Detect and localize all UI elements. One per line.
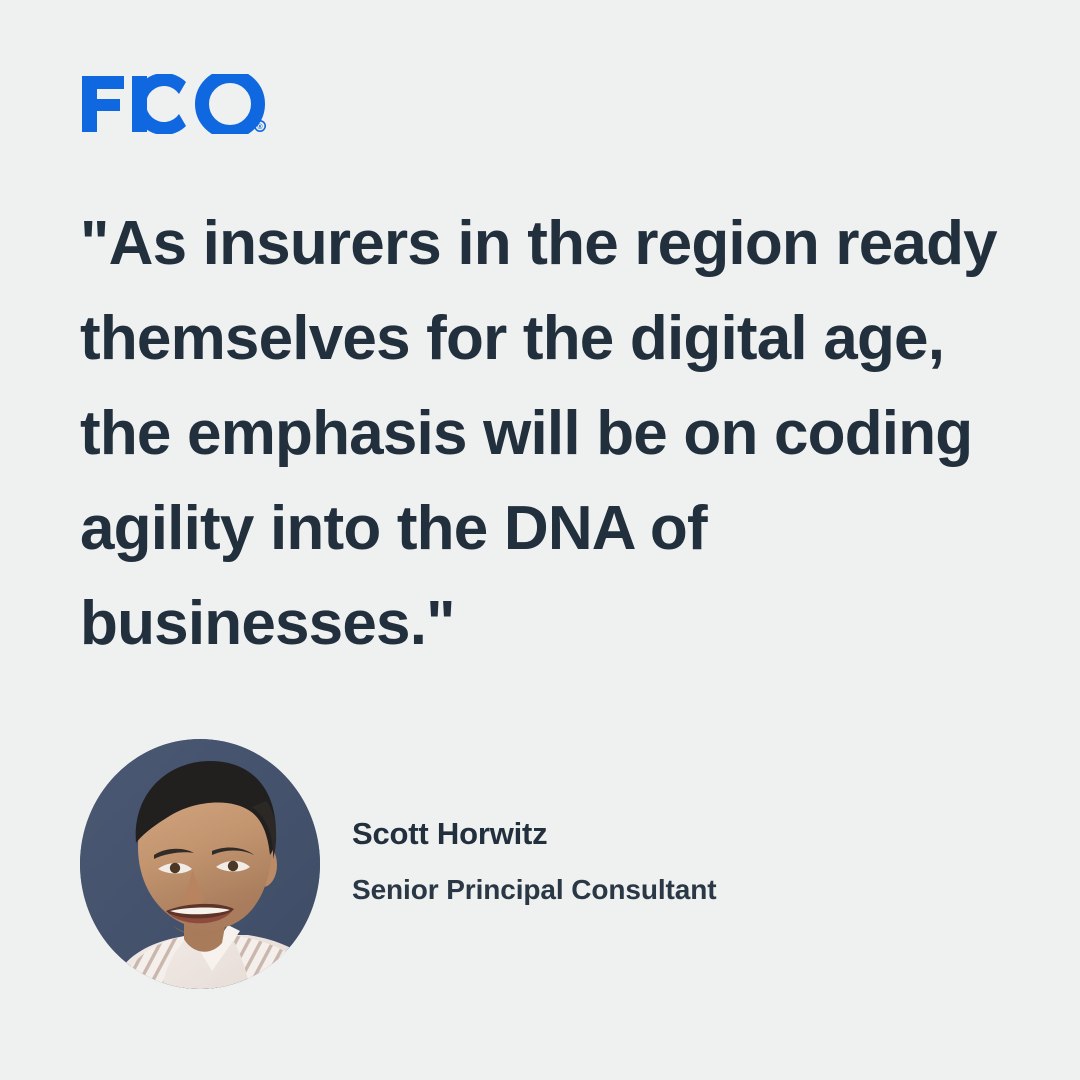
quote-line: agility into the DNA of [80, 481, 1010, 576]
attribution-text: Scott Horwitz Senior Principal Consultan… [352, 812, 716, 916]
quote-card: ® "As insurers in the region ready thems… [0, 0, 1080, 1080]
registered-trademark-glyph: ® [257, 123, 263, 131]
quote-line: businesses." [80, 576, 1010, 671]
quote-line: the emphasis will be on coding [80, 386, 1010, 481]
person-title: Senior Principal Consultant [352, 868, 716, 912]
fico-logo[interactable]: ® [80, 74, 280, 134]
person-name: Scott Horwitz [352, 812, 716, 856]
attribution: Scott Horwitz Senior Principal Consultan… [80, 736, 980, 992]
quote-text: "As insurers in the region ready themsel… [80, 196, 1010, 671]
avatar [80, 739, 320, 989]
quote-line: themselves for the digital age, [80, 291, 1010, 386]
quote-line: "As insurers in the region ready [80, 196, 1010, 291]
